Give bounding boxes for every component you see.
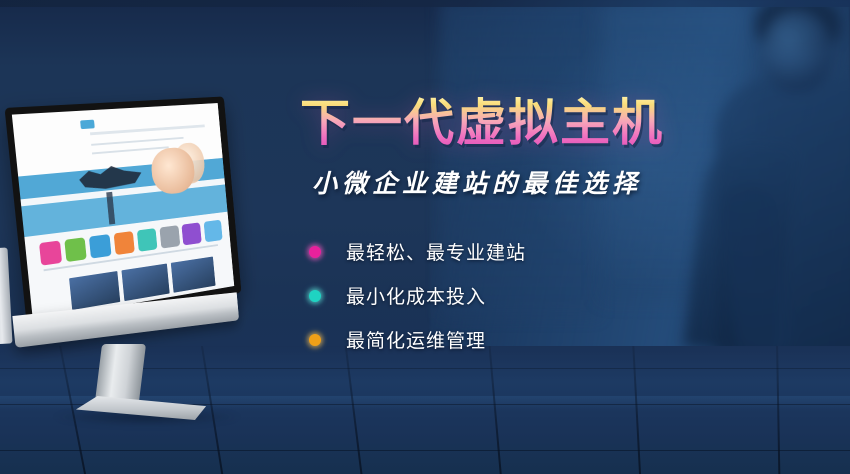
top-edge-strip: [0, 0, 850, 7]
website-app-icon: [64, 237, 87, 262]
website-app-icon: [113, 231, 135, 255]
website-logo-icon: [80, 120, 95, 130]
page-title: 下一代虚拟主机: [300, 96, 720, 150]
hosting-promo-banner: 下一代虚拟主机 小微企业建站的最佳选择 最轻松、最专业建站 最小化成本投入 最简…: [0, 0, 850, 474]
website-app-icon: [182, 222, 202, 245]
website-app-icon: [89, 234, 111, 258]
website-photo-tile: [69, 271, 120, 310]
floor-horizontal-line: [0, 450, 850, 451]
bullet-dot-core: [309, 246, 321, 258]
website-app-icon: [160, 225, 180, 248]
website-app-icon: [203, 220, 222, 243]
list-item: 最轻松、最专业建站: [304, 238, 720, 265]
bullet-dot-icon: [304, 241, 326, 263]
website-app-icon: [39, 240, 62, 265]
desktop-monitor: [12, 108, 288, 404]
feature-label: 最简化运维管理: [346, 326, 486, 353]
feature-label: 最小化成本投入: [346, 282, 486, 309]
feature-list: 最轻松、最专业建站 最小化成本投入 最简化运维管理: [304, 238, 720, 353]
website-photo-tile: [171, 256, 216, 293]
website-photo-tile: [121, 263, 169, 301]
website-app-icon: [137, 228, 158, 252]
bullet-dot-core: [309, 334, 321, 346]
person-head: [762, 10, 832, 92]
floor-tile-line: [776, 346, 781, 474]
page-subtitle: 小微企业建站的最佳选择: [312, 164, 720, 200]
feature-label: 最轻松、最专业建站: [346, 238, 526, 265]
list-item: 最小化成本投入: [304, 282, 720, 309]
bullet-dot-icon: [304, 285, 326, 307]
bullet-dot-core: [309, 290, 321, 302]
promo-text-block: 下一代虚拟主机 小微企业建站的最佳选择 最轻松、最专业建站 最小化成本投入 最简…: [300, 96, 720, 370]
monitor-screen: [12, 103, 234, 321]
list-item: 最简化运维管理: [304, 326, 720, 353]
bullet-dot-icon: [304, 329, 326, 351]
